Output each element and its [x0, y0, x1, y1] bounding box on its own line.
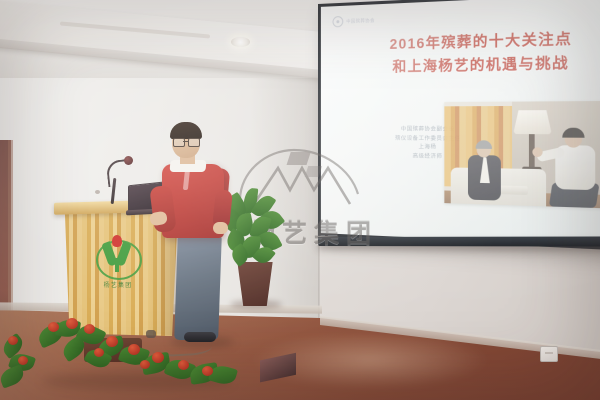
slide-association-logo: 中国殡葬协会: [333, 15, 375, 28]
projection-screen-bottom-bar: [318, 236, 600, 246]
projection-screen-frame: 中国殡葬协会 2016年殡葬的十大关注点 和上海杨艺的机遇与挑战 中国殡葬协会副…: [318, 0, 600, 251]
slide-logo-ring: [333, 16, 344, 28]
wall-sensor-dot: [95, 190, 100, 194]
slide-title-line2: 和上海杨艺的机遇与挑战: [358, 52, 600, 79]
photo-person-right-hand: [532, 147, 542, 157]
projection-screen-assembly: 中国殡葬协会 2016年殡葬的十大关注点 和上海杨艺的机遇与挑战 中国殡葬协会副…: [318, 4, 600, 244]
corner-red-flower: [18, 356, 28, 365]
flower-arrangement: [32, 316, 247, 396]
corner-plant: [0, 330, 36, 400]
podium-logo-text: 杨艺集团: [88, 280, 148, 289]
glasses-lens-right: [188, 138, 200, 147]
podium-logo-bud: [112, 235, 122, 247]
plant-pot: [234, 262, 276, 306]
red-flower: [94, 348, 104, 357]
red-flower: [66, 318, 78, 329]
podium-tulip-logo-icon: [92, 232, 144, 284]
slide-logo-text: 中国殡葬协会: [346, 17, 375, 24]
glasses-lens-left: [173, 138, 185, 147]
podium-logo-stem: [115, 258, 119, 272]
corner-red-flower: [8, 336, 18, 345]
slide-embedded-photo: [444, 101, 600, 209]
slide-title-line1: 2016年殡葬的十大关注点: [390, 31, 573, 52]
red-flower: [152, 352, 164, 363]
wall-outlet: [540, 346, 558, 362]
microphone-head-icon: [124, 156, 133, 165]
slide-title: 2016年殡葬的十大关注点 和上海杨艺的机遇与挑战: [358, 27, 600, 78]
speaker-hand-right: [213, 222, 228, 234]
red-flower: [48, 322, 59, 332]
red-flower: [128, 344, 140, 355]
projection-screen-surface: 中国殡葬协会 2016年殡葬的十大关注点 和上海杨艺的机遇与挑战 中国殡葬协会副…: [321, 0, 600, 247]
red-flower: [178, 360, 189, 370]
red-flower: [106, 336, 118, 347]
ceiling-downlight: [231, 37, 250, 47]
red-flower: [140, 360, 150, 369]
speaker-glasses-icon: [173, 138, 199, 145]
red-flower: [84, 324, 95, 334]
photo-lamp-shade: [513, 110, 552, 134]
conference-room-photo: 中国殡葬协会 2016年殡葬的十大关注点 和上海杨艺的机遇与挑战 中国殡葬协会副…: [0, 0, 600, 400]
red-flower: [202, 366, 213, 376]
